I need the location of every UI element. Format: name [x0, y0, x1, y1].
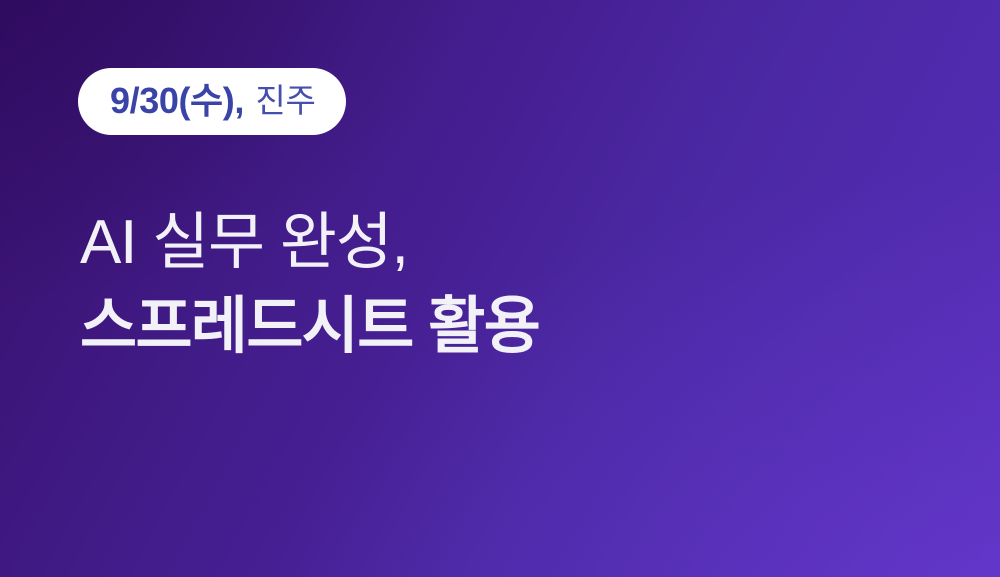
date-location-badge: 9/30(수) , 진주	[78, 68, 346, 135]
badge-date-text: 9/30(수)	[110, 83, 234, 119]
badge-location-text: 진주	[255, 84, 315, 117]
badge-separator: ,	[234, 83, 244, 119]
headline-line-1: AI 실무 완성,	[80, 212, 539, 274]
promo-banner: 9/30(수) , 진주 AI 실무 완성, 스프레드시트 활용	[0, 0, 1000, 577]
banner-content: 9/30(수) , 진주 AI 실무 완성, 스프레드시트 활용	[0, 0, 1000, 577]
headline-line-2: 스프레드시트 활용	[80, 296, 539, 358]
headline-block: AI 실무 완성, 스프레드시트 활용	[80, 212, 539, 358]
